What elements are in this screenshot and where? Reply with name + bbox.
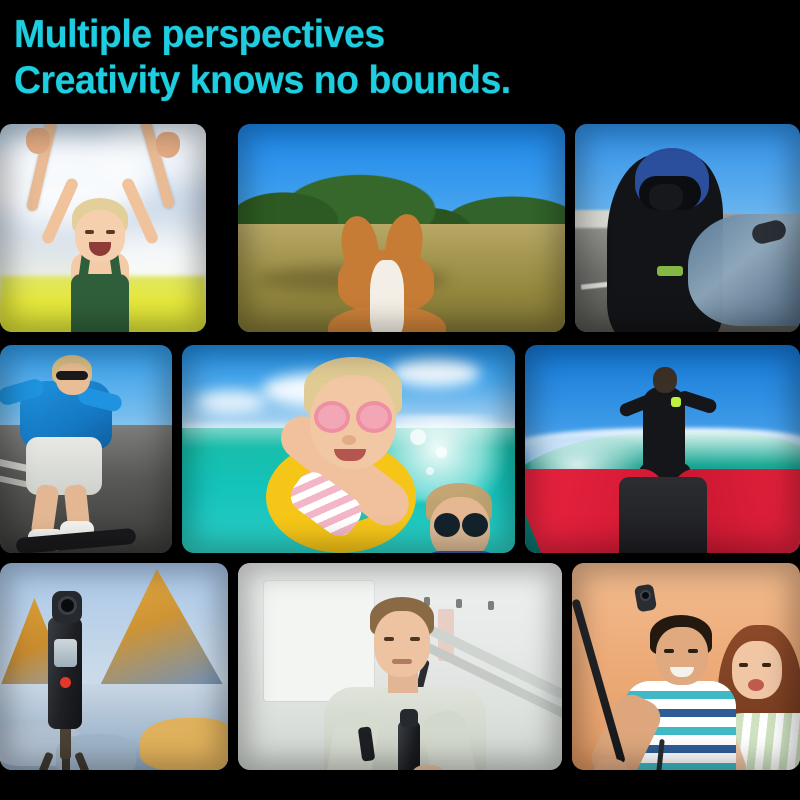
gallery-tile-man-holding-camera[interactable] [238, 563, 562, 770]
scene-corgi-park [238, 124, 565, 332]
scene-skateboarder [0, 345, 172, 553]
gallery-tile-kids-swimming[interactable] [182, 345, 515, 553]
gallery-tile-kid-swinging[interactable] [0, 124, 206, 332]
photo-gallery-grid [0, 0, 800, 800]
scene-motorcycle-rider [575, 124, 800, 332]
gallery-tile-camera-tripod[interactable] [0, 563, 228, 770]
scene-kid-swinging [0, 124, 206, 332]
scene-couple-selfie [572, 563, 800, 770]
gallery-tile-skateboarder[interactable] [0, 345, 172, 553]
scene-man-holding-camera [238, 563, 562, 770]
gallery-tile-surfer-wave[interactable] [525, 345, 800, 553]
scene-camera-tripod [0, 563, 228, 770]
gallery-tile-corgi-park[interactable] [238, 124, 565, 332]
gallery-tile-couple-selfie[interactable] [572, 563, 800, 770]
scene-surfer-wave [525, 345, 800, 553]
product-poster: Multiple perspectives Creativity knows n… [0, 0, 800, 800]
scene-kids-swimming [182, 345, 515, 553]
gallery-tile-motorcycle-rider[interactable] [575, 124, 800, 332]
